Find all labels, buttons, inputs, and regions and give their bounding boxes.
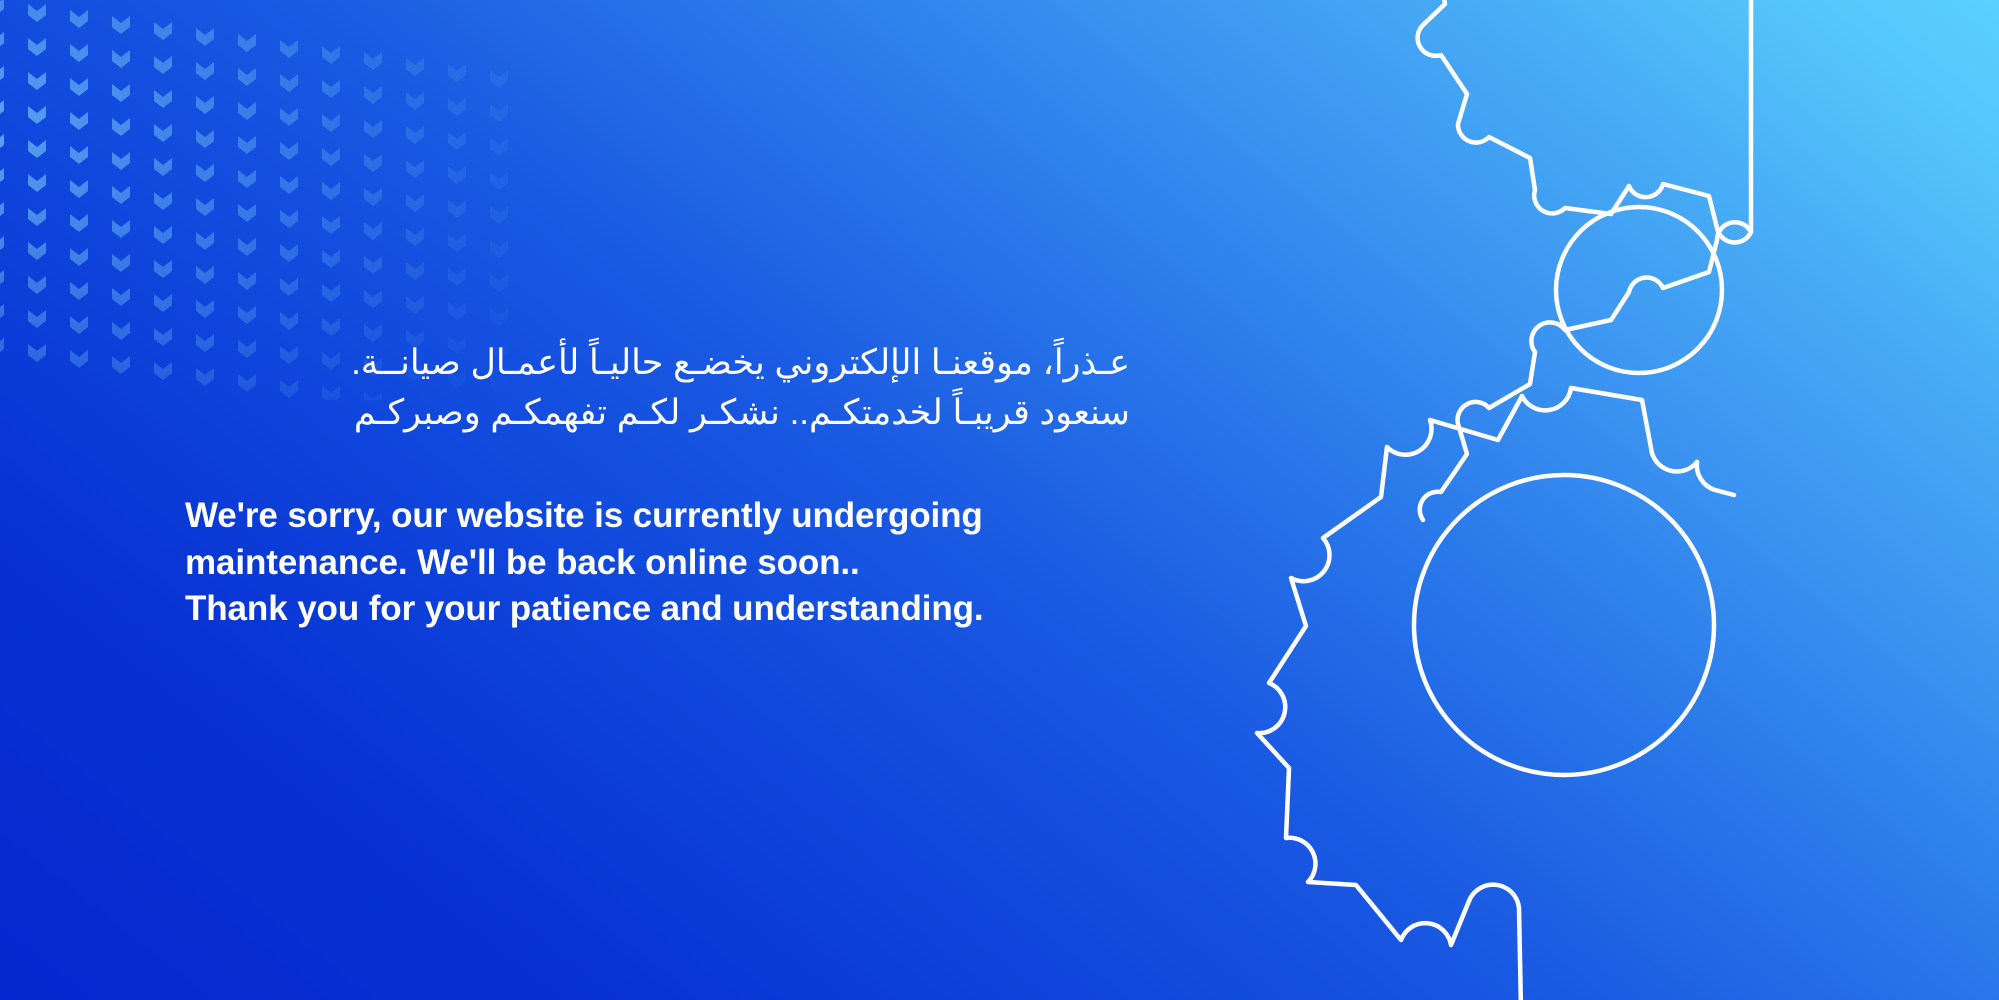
large-gear-hub <box>1414 475 1714 775</box>
english-line-3: Thank you for your patience and understa… <box>185 586 1145 633</box>
maintenance-page: عـذراً، موقعنـا الإلكتروني يخضـع حاليـاً… <box>0 0 1999 1000</box>
english-line-1: We're sorry, our website is currently un… <box>185 493 1145 540</box>
small-gear-teeth-lower <box>1420 222 1751 520</box>
english-message: We're sorry, our website is currently un… <box>185 493 1145 633</box>
arabic-message: عـذراً، موقعنـا الإلكتروني يخضـع حاليـاً… <box>185 338 1130 437</box>
arabic-line-1: عـذراً، موقعنـا الإلكتروني يخضـع حاليـاً… <box>185 338 1130 388</box>
small-gear-hub <box>1556 207 1722 373</box>
bottom-connector-line <box>1469 885 1521 1000</box>
arabic-line-2: سنعود قريبـاً لخدمتكـم.. نشكـر لكـم تفهم… <box>185 388 1130 438</box>
maintenance-message: عـذراً، موقعنـا الإلكتروني يخضـع حاليـاً… <box>185 338 1145 633</box>
small-gear-teeth <box>1418 0 1751 242</box>
large-gear-teeth <box>1257 388 1697 945</box>
large-gear <box>1257 388 1734 945</box>
english-line-2: maintenance. We'll be back online soon.. <box>185 540 1145 587</box>
large-gear-teeth-right <box>1697 462 1734 495</box>
gear-illustration <box>999 0 1999 1000</box>
small-gear <box>1418 0 1751 520</box>
